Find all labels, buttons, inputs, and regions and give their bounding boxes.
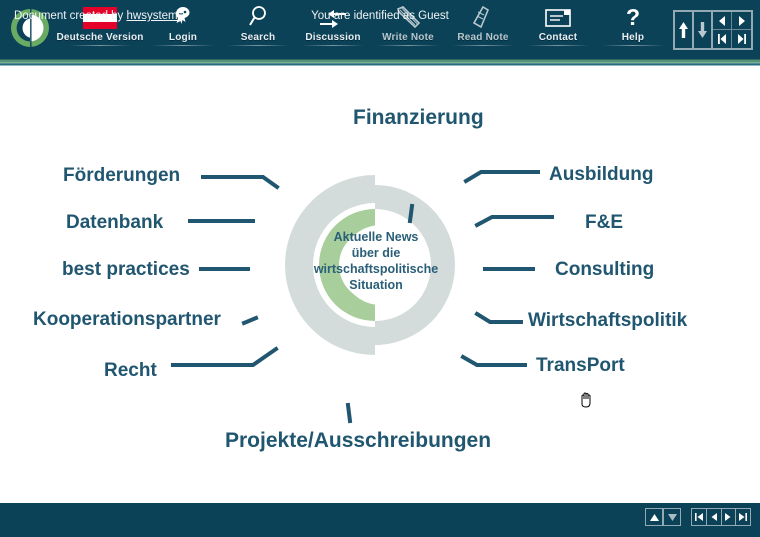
- nav-label: Contact: [539, 32, 578, 43]
- diagram-canvas: Aktuelle News über die wirtschaftspoliti…: [0, 69, 760, 497]
- nav-label: Deutsche Version: [56, 32, 143, 43]
- last-icon[interactable]: [735, 508, 751, 526]
- nav-underline: [152, 45, 214, 46]
- next-icon[interactable]: [721, 508, 736, 526]
- diagram-label-ausbildung[interactable]: Ausbildung: [549, 164, 653, 186]
- nav-label: Search: [241, 32, 276, 43]
- diagram-label-f-und-e[interactable]: F&E: [585, 212, 623, 234]
- diagram-label-datenbank[interactable]: Datenbank: [66, 212, 163, 234]
- top-toolbar: Deutsche Version Login Search: [0, 0, 760, 57]
- nav-underline: [452, 45, 514, 46]
- diagram-label-finanzierung[interactable]: Finanzierung: [353, 106, 484, 130]
- diagram-label-kooperationspartner[interactable]: Kooperationspartner: [33, 309, 221, 331]
- footer-nav-buttons[interactable]: [691, 508, 751, 524]
- nav-label: Discussion: [305, 32, 360, 43]
- footer-identity: You are identified as Guest: [0, 10, 760, 22]
- diagram-label-projekte-ausschreibungen[interactable]: Projekte/Ausschreibungen: [225, 429, 491, 453]
- diagram-label-wirtschaftspolitik[interactable]: Wirtschaftspolitik: [528, 310, 687, 332]
- first-page-icon[interactable]: [713, 30, 732, 48]
- scroll-up-icon[interactable]: [645, 508, 663, 526]
- nav-label: Login: [169, 32, 197, 43]
- nav-label: Read Note: [457, 32, 508, 43]
- header-divider: [0, 57, 760, 69]
- footer-scroll-buttons[interactable]: [645, 508, 681, 524]
- last-page-icon[interactable]: [732, 30, 751, 48]
- nav-underline: [302, 45, 364, 46]
- scroll-down-icon[interactable]: [663, 508, 681, 526]
- diagram-label-foerderungen[interactable]: Förderungen: [63, 165, 180, 187]
- nav-label: Write Note: [382, 32, 434, 43]
- diagram-label-consulting[interactable]: Consulting: [555, 259, 654, 281]
- prev-icon[interactable]: [706, 508, 721, 526]
- nav-underline: [602, 45, 664, 46]
- nav-underline: [69, 45, 131, 46]
- nav-label: Help: [622, 32, 644, 43]
- nav-underline: [377, 45, 439, 46]
- first-icon[interactable]: [691, 508, 706, 526]
- nav-underline: [227, 45, 289, 46]
- diagram-label-transport[interactable]: TransPort: [536, 355, 625, 377]
- diagram-label-best-practices[interactable]: best practices: [62, 259, 190, 281]
- diagram-label-recht[interactable]: Recht: [104, 360, 157, 382]
- nav-underline: [527, 45, 589, 46]
